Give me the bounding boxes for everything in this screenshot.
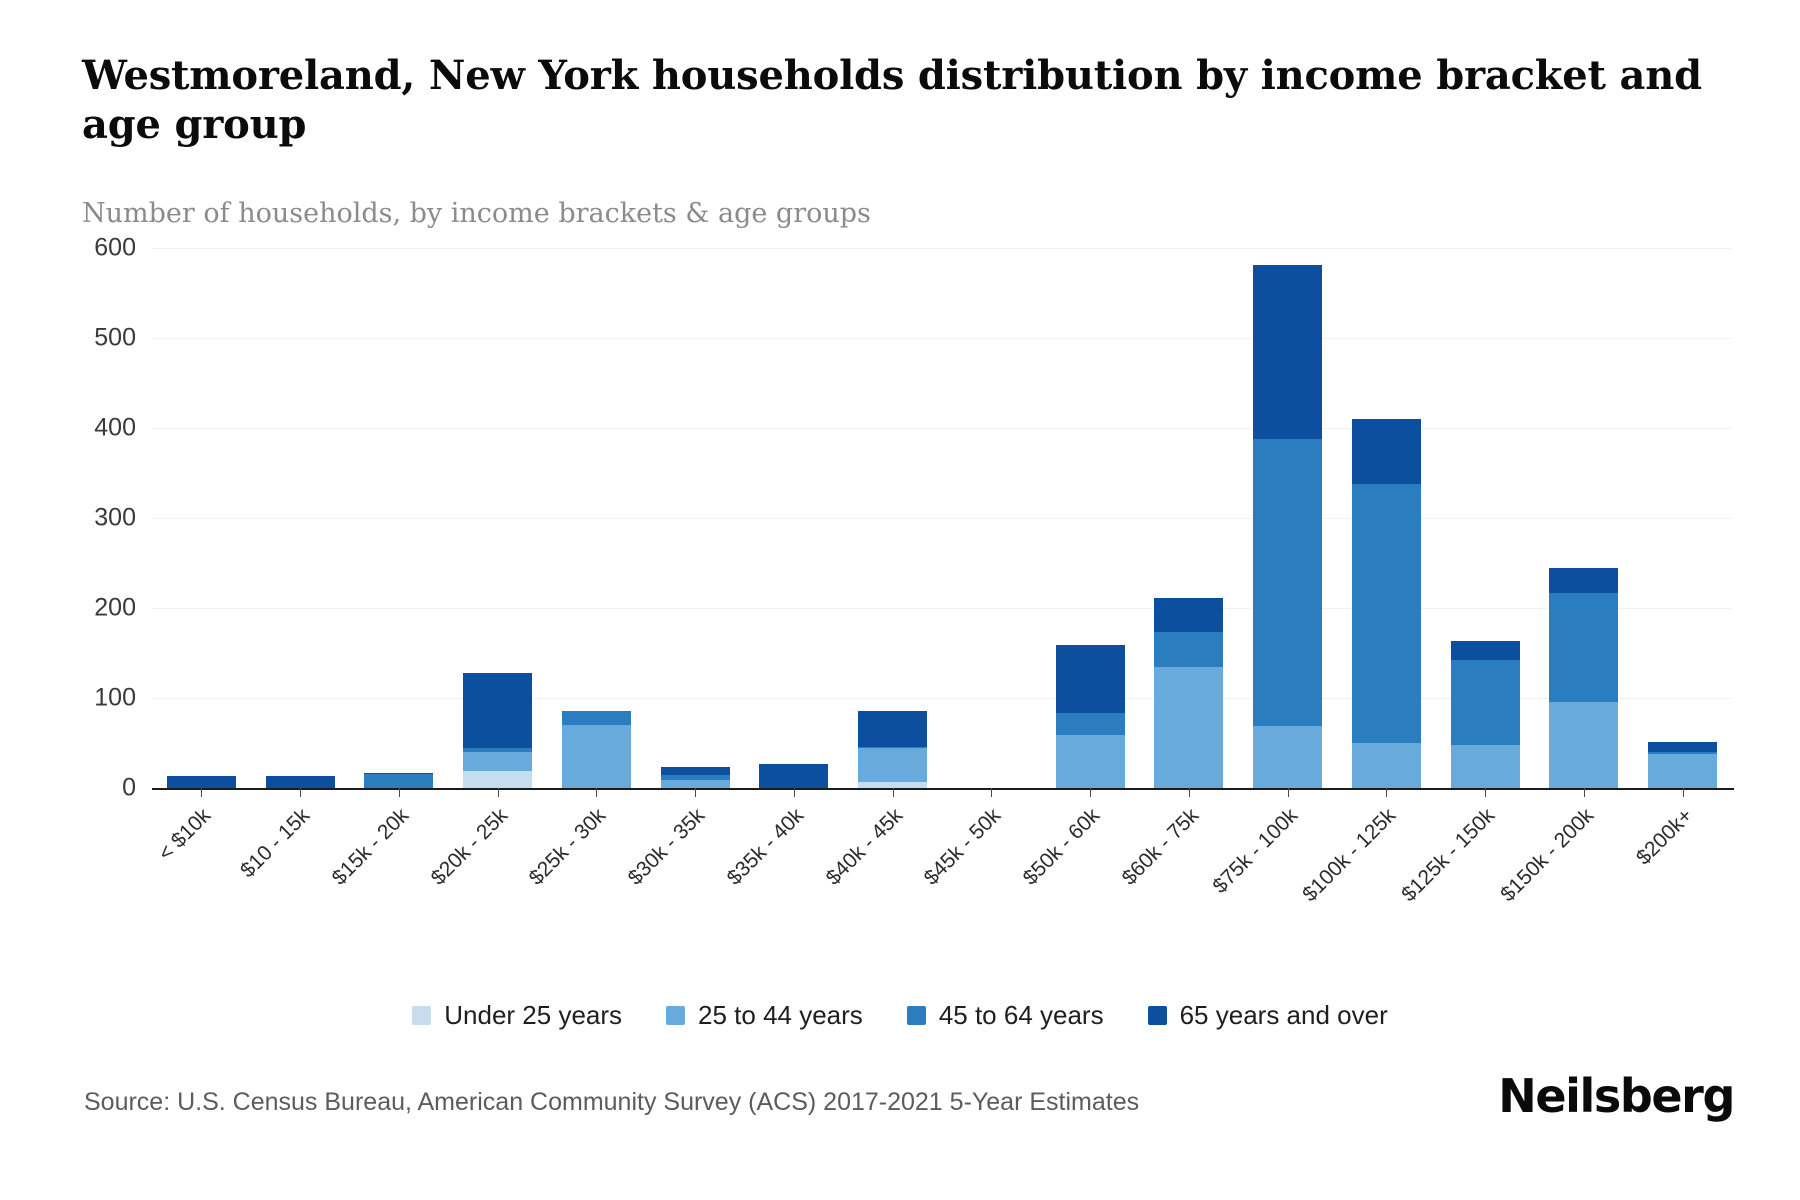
legend-label: 25 to 44 years xyxy=(698,1000,863,1031)
x-tick xyxy=(991,788,992,797)
x-tick xyxy=(1485,788,1486,797)
bar-group[interactable] xyxy=(266,248,335,788)
x-tick xyxy=(399,788,400,797)
x-tick xyxy=(893,788,894,797)
bar-segment[interactable] xyxy=(1352,743,1421,788)
x-axis-labels: < $10k$10 - 15k$15k - 20k$20k - 25k$25k … xyxy=(152,798,1732,918)
legend-swatch-icon xyxy=(412,1006,431,1025)
legend-item[interactable]: Under 25 years xyxy=(412,1000,622,1031)
chart-page: Westmoreland, New York households distri… xyxy=(0,0,1800,1200)
x-tick xyxy=(695,788,696,797)
bar-segment[interactable] xyxy=(661,780,730,788)
bar-stack xyxy=(1648,742,1717,788)
bar-series-area xyxy=(152,248,1732,788)
bar-segment[interactable] xyxy=(463,752,532,771)
bar-segment[interactable] xyxy=(1154,632,1223,666)
bar-stack xyxy=(1253,265,1322,788)
source-note: Source: U.S. Census Bureau, American Com… xyxy=(84,1088,1139,1117)
legend-item[interactable]: 65 years and over xyxy=(1148,1000,1388,1031)
bar-segment[interactable] xyxy=(661,767,730,775)
bar-stack xyxy=(858,711,927,788)
bar-group[interactable] xyxy=(1056,248,1125,788)
bar-segment[interactable] xyxy=(1549,593,1618,702)
bar-segment[interactable] xyxy=(1549,568,1618,592)
bar-stack xyxy=(167,776,236,788)
page-title: Westmoreland, New York households distri… xyxy=(82,52,1702,150)
x-tick xyxy=(201,788,202,797)
legend-swatch-icon xyxy=(666,1006,685,1025)
page-subtitle: Number of households, by income brackets… xyxy=(82,198,1582,229)
y-tick-label: 600 xyxy=(94,234,136,263)
y-tick-label: 300 xyxy=(94,504,136,533)
bar-segment[interactable] xyxy=(463,771,532,788)
x-tick xyxy=(596,788,597,797)
brand-logo: Neilsberg xyxy=(1498,1069,1734,1123)
bar-group[interactable] xyxy=(858,248,927,788)
bar-stack xyxy=(1451,641,1520,788)
legend-item[interactable]: 25 to 44 years xyxy=(666,1000,863,1031)
bar-segment[interactable] xyxy=(562,725,631,788)
x-tick xyxy=(498,788,499,797)
bar-segment[interactable] xyxy=(1253,439,1322,726)
bar-group[interactable] xyxy=(957,248,1026,788)
bar-stack xyxy=(1056,645,1125,788)
bar-group[interactable] xyxy=(661,248,730,788)
bar-segment[interactable] xyxy=(1056,645,1125,713)
bar-group[interactable] xyxy=(1352,248,1421,788)
bar-group[interactable] xyxy=(1549,248,1618,788)
x-tick xyxy=(1288,788,1289,797)
x-tick xyxy=(1386,788,1387,797)
bar-group[interactable] xyxy=(1154,248,1223,788)
bar-segment[interactable] xyxy=(858,748,927,781)
bar-segment[interactable] xyxy=(266,776,335,788)
bar-stack xyxy=(562,711,631,788)
bar-stack xyxy=(1549,568,1618,788)
bar-stack xyxy=(661,767,730,788)
bar-stack xyxy=(759,764,828,788)
bar-segment[interactable] xyxy=(1154,598,1223,632)
bar-segment[interactable] xyxy=(1352,419,1421,484)
bar-segment[interactable] xyxy=(463,673,532,749)
y-tick-label: 100 xyxy=(94,684,136,713)
y-tick-label: 400 xyxy=(94,414,136,443)
bar-segment[interactable] xyxy=(1549,702,1618,788)
bar-segment[interactable] xyxy=(562,711,631,725)
x-axis-line xyxy=(152,788,1734,790)
bar-segment[interactable] xyxy=(1352,484,1421,743)
legend-label: Under 25 years xyxy=(444,1000,622,1031)
bar-stack xyxy=(463,673,532,788)
bar-stack xyxy=(1352,419,1421,788)
x-tick xyxy=(1189,788,1190,797)
bar-stack xyxy=(266,776,335,788)
bar-segment[interactable] xyxy=(364,774,433,788)
bar-stack xyxy=(1154,598,1223,788)
bar-group[interactable] xyxy=(1648,248,1717,788)
bar-segment[interactable] xyxy=(759,764,828,788)
bar-group[interactable] xyxy=(167,248,236,788)
bar-segment[interactable] xyxy=(1253,265,1322,439)
x-tick xyxy=(1090,788,1091,797)
legend-item[interactable]: 45 to 64 years xyxy=(907,1000,1104,1031)
bar-group[interactable] xyxy=(364,248,433,788)
bar-group[interactable] xyxy=(759,248,828,788)
x-tick xyxy=(794,788,795,797)
bar-group[interactable] xyxy=(562,248,631,788)
bar-group[interactable] xyxy=(463,248,532,788)
y-tick-label: 200 xyxy=(94,594,136,623)
bar-segment[interactable] xyxy=(1056,735,1125,788)
x-tick xyxy=(1584,788,1585,797)
y-tick-label: 500 xyxy=(94,324,136,353)
bar-segment[interactable] xyxy=(1253,726,1322,788)
bar-group[interactable] xyxy=(1451,248,1520,788)
legend-swatch-icon xyxy=(907,1006,926,1025)
bar-group[interactable] xyxy=(1253,248,1322,788)
legend-swatch-icon xyxy=(1148,1006,1167,1025)
bar-segment[interactable] xyxy=(858,711,927,747)
x-tick xyxy=(300,788,301,797)
bar-segment[interactable] xyxy=(1056,713,1125,735)
bar-segment[interactable] xyxy=(167,776,236,788)
bar-segment[interactable] xyxy=(1154,667,1223,789)
legend-label: 65 years and over xyxy=(1180,1000,1388,1031)
x-tick xyxy=(1683,788,1684,797)
bar-segment[interactable] xyxy=(1451,641,1520,660)
bar-segment[interactable] xyxy=(1648,754,1717,788)
legend-label: 45 to 64 years xyxy=(939,1000,1104,1031)
bar-segment[interactable] xyxy=(1648,742,1717,752)
y-axis-labels: 0100200300400500600 xyxy=(60,248,136,788)
y-tick-label: 0 xyxy=(122,774,136,803)
bar-stack xyxy=(364,773,433,788)
bar-segment[interactable] xyxy=(1451,745,1520,788)
chart-legend: Under 25 years25 to 44 years45 to 64 yea… xyxy=(0,1000,1800,1031)
bar-segment[interactable] xyxy=(1451,660,1520,745)
